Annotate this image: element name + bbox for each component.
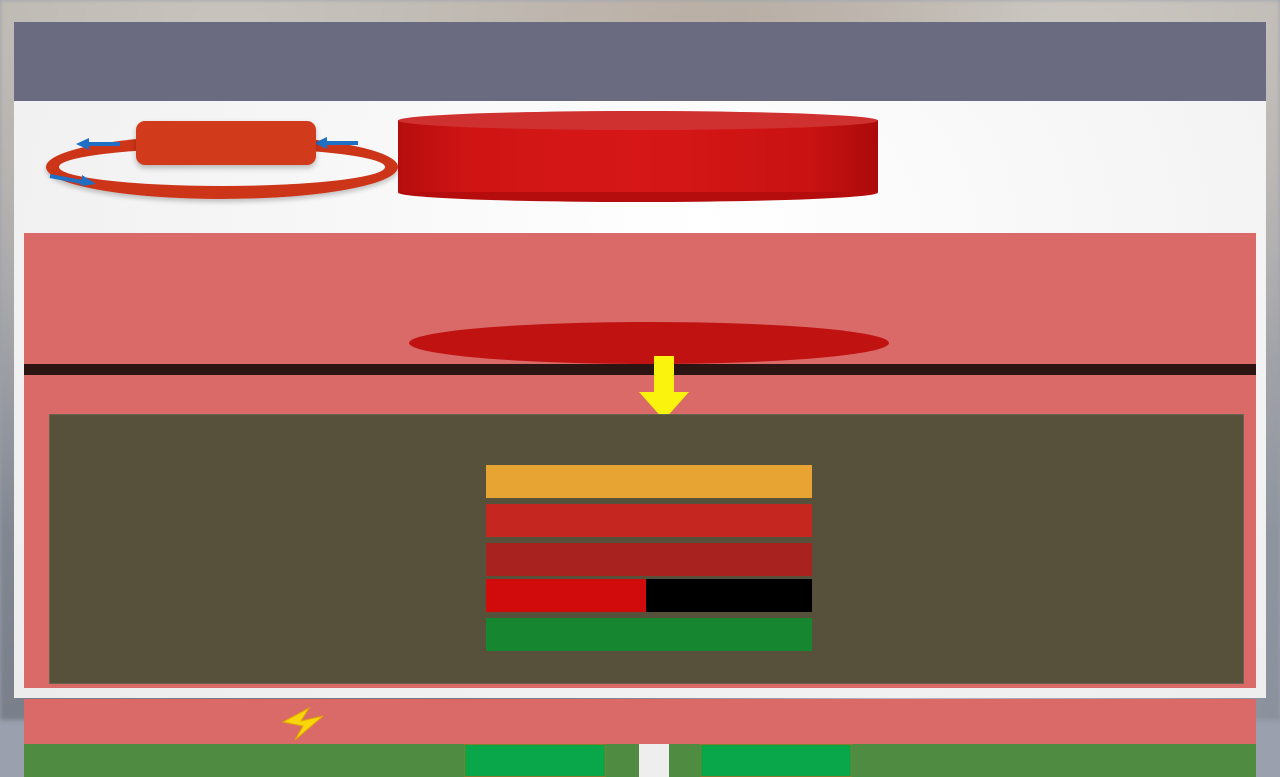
body-box-left [464, 744, 606, 777]
lightning-bolt-icon [279, 706, 327, 748]
god-label [136, 121, 316, 165]
love-arrow-icon [76, 137, 122, 151]
cell-gain [486, 579, 646, 612]
slide [14, 22, 1266, 698]
row-trust [486, 465, 812, 498]
cell-loss [646, 579, 812, 612]
arrow-down-icon [634, 356, 694, 421]
identity-box [49, 414, 1244, 684]
row-decision [486, 618, 812, 651]
slide-body [14, 101, 1266, 698]
spiritual-needs-cylinder [398, 111, 878, 198]
row-decision-criteria [486, 543, 812, 576]
row-motivation [486, 504, 812, 537]
god-circulation-diagram [32, 127, 407, 207]
god-box [136, 121, 316, 165]
band-gap [639, 744, 669, 777]
cylinder-body [398, 120, 878, 192]
word-of-god-arrow-icon [48, 171, 98, 187]
slide-header [14, 22, 1266, 101]
spirit-panel [24, 233, 1256, 688]
row-gain-loss [486, 579, 812, 612]
cortex-band [24, 744, 1256, 777]
fruit-arrow-icon [314, 136, 360, 150]
body-box-right [700, 744, 852, 777]
yes-no-band [24, 699, 1256, 744]
cylinder-top-ellipse [398, 111, 878, 130]
